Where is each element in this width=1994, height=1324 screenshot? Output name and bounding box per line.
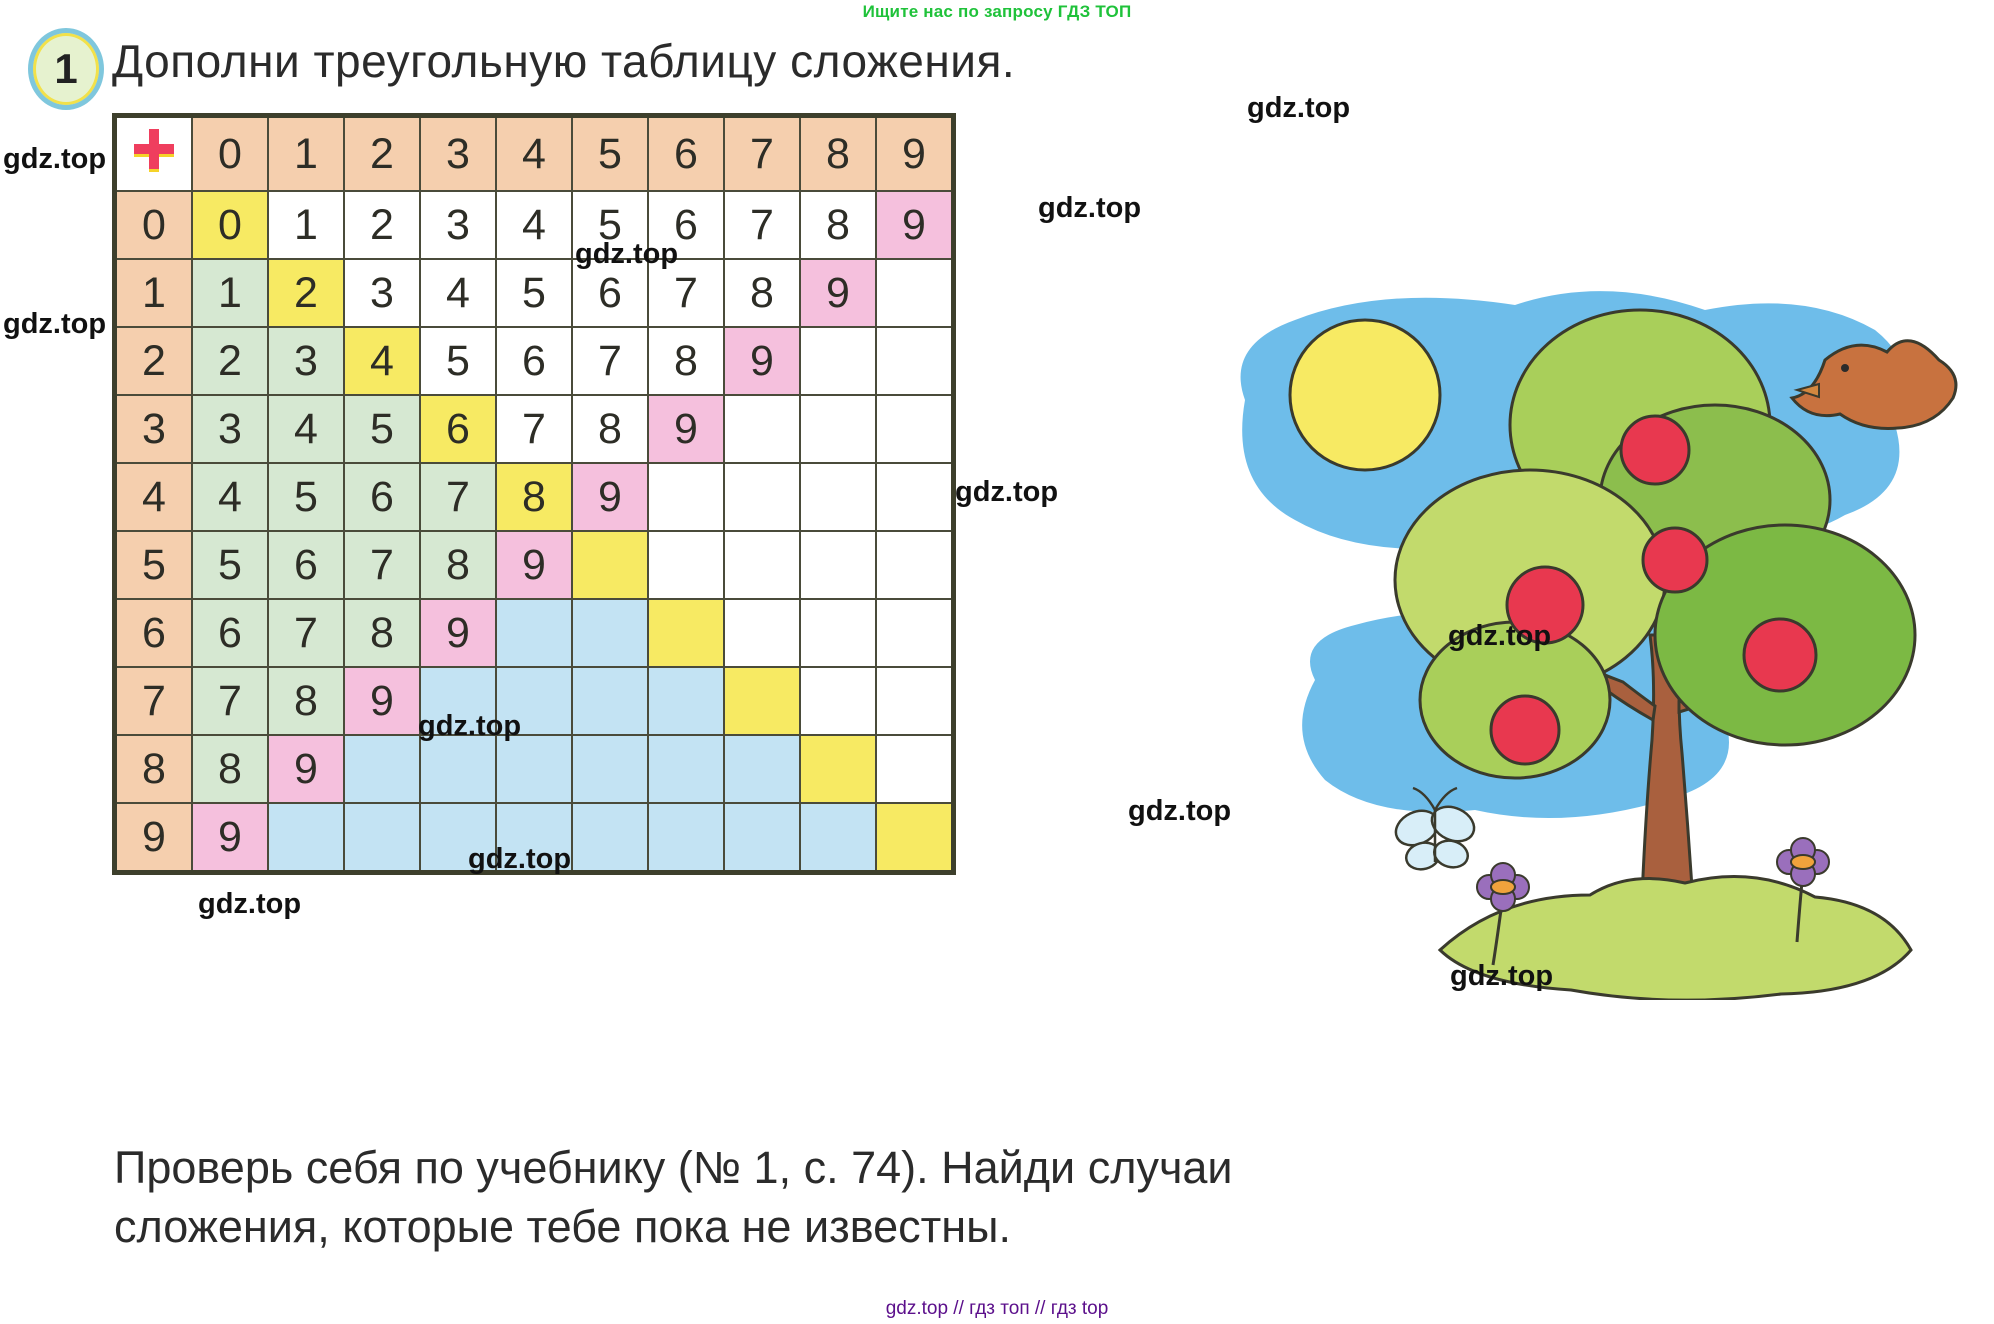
sum-cell-6-0[interactable]: 6 [192,599,268,667]
column-header-7: 7 [724,116,800,192]
empty-cell-9-5[interactable] [572,803,648,873]
sum-cell-4-3[interactable]: 7 [420,463,496,531]
sun-icon [1290,320,1440,470]
empty-cell-8-9[interactable] [876,735,954,803]
sum-cell-0-0[interactable]: 0 [192,191,268,259]
empty-cell-4-6[interactable] [648,463,724,531]
empty-cell-9-4[interactable] [496,803,572,873]
sum-cell-0-3[interactable]: 3 [420,191,496,259]
sum-cell-3-1[interactable]: 4 [268,395,344,463]
sum-cell-0-9[interactable]: 9 [876,191,954,259]
footer-line-2: сложения, которые тебе пока не известны. [114,1197,1534,1256]
sum-cell-3-0[interactable]: 3 [192,395,268,463]
empty-cell-9-2[interactable] [344,803,420,873]
table-row: 4456789 [115,463,954,531]
sum-cell-7-1[interactable]: 8 [268,667,344,735]
empty-cell-4-7[interactable] [724,463,800,531]
table-row: 223456789 [115,327,954,395]
empty-cell-6-8[interactable] [800,599,876,667]
empty-cell-3-9[interactable] [876,395,954,463]
sum-cell-5-1[interactable]: 6 [268,531,344,599]
sum-cell-2-1[interactable]: 3 [268,327,344,395]
sum-cell-2-5[interactable]: 7 [572,327,648,395]
empty-cell-8-8[interactable] [800,735,876,803]
row-header-5: 5 [115,531,193,599]
floating-watermark: gdz.top [1247,92,1350,125]
empty-cell-7-9[interactable] [876,667,954,735]
table-row: 1123456789 [115,259,954,327]
empty-cell-6-5[interactable] [572,599,648,667]
empty-cell-6-4[interactable] [496,599,572,667]
table-row: 889 [115,735,954,803]
empty-cell-6-6[interactable] [648,599,724,667]
sum-cell-6-1[interactable]: 7 [268,599,344,667]
sum-cell-1-3[interactable]: 4 [420,259,496,327]
empty-cell-8-4[interactable] [496,735,572,803]
row-header-3: 3 [115,395,193,463]
empty-cell-9-6[interactable] [648,803,724,873]
empty-cell-8-2[interactable] [344,735,420,803]
row-header-9: 9 [115,803,193,873]
row-header-1: 1 [115,259,193,327]
exercise-number-badge: 1 [28,28,104,110]
table-row: 66789 [115,599,954,667]
row-header-7: 7 [115,667,193,735]
empty-cell-5-7[interactable] [724,531,800,599]
sum-cell-0-1[interactable]: 1 [268,191,344,259]
sum-cell-7-2[interactable]: 9 [344,667,420,735]
floating-watermark: gdz.top [1038,192,1141,225]
floating-watermark: gdz.top [198,888,301,921]
sum-cell-6-3[interactable]: 9 [420,599,496,667]
sum-cell-1-7[interactable]: 8 [724,259,800,327]
column-header-9: 9 [876,116,954,192]
sum-cell-3-6[interactable]: 9 [648,395,724,463]
empty-cell-3-7[interactable] [724,395,800,463]
sum-cell-2-0[interactable]: 2 [192,327,268,395]
sum-cell-0-6[interactable]: 6 [648,191,724,259]
empty-cell-8-3[interactable] [420,735,496,803]
top-watermark-banner: Ищите нас по запросу ГДЗ ТОП [0,2,1994,22]
table-header-row: 0123456789 [115,116,954,192]
sum-cell-7-0[interactable]: 7 [192,667,268,735]
empty-cell-5-9[interactable] [876,531,954,599]
empty-cell-3-8[interactable] [800,395,876,463]
row-header-6: 6 [115,599,193,667]
column-header-8: 8 [800,116,876,192]
floating-watermark: gdz.top [3,308,106,341]
row-header-2: 2 [115,327,193,395]
empty-cell-4-8[interactable] [800,463,876,531]
addition-table-body: 0123456789001234567891123456789223456789… [115,116,954,873]
empty-cell-9-7[interactable] [724,803,800,873]
row-header-4: 4 [115,463,193,531]
footer-line-1: Проверь себя по учебнику (№ 1, с. 74). Н… [114,1138,1534,1197]
column-header-3: 3 [420,116,496,192]
sum-cell-5-2[interactable]: 7 [344,531,420,599]
empty-cell-8-7[interactable] [724,735,800,803]
sum-cell-2-6[interactable]: 8 [648,327,724,395]
sum-cell-5-4[interactable]: 9 [496,531,572,599]
sum-cell-3-4[interactable]: 7 [496,395,572,463]
sum-cell-4-1[interactable]: 5 [268,463,344,531]
sum-cell-4-2[interactable]: 6 [344,463,420,531]
empty-cell-2-8[interactable] [800,327,876,395]
empty-cell-7-5[interactable] [572,667,648,735]
sum-cell-6-2[interactable]: 8 [344,599,420,667]
empty-cell-9-3[interactable] [420,803,496,873]
exercise-footer-text: Проверь себя по учебнику (№ 1, с. 74). Н… [114,1138,1534,1257]
empty-cell-2-9[interactable] [876,327,954,395]
column-header-4: 4 [496,116,572,192]
floating-watermark: gdz.top [3,143,106,176]
sum-cell-1-1[interactable]: 2 [268,259,344,327]
apple-tree-illustration [1185,250,1985,1000]
empty-cell-7-8[interactable] [800,667,876,735]
empty-cell-9-8[interactable] [800,803,876,873]
sum-cell-2-2[interactable]: 4 [344,327,420,395]
sum-cell-4-0[interactable]: 4 [192,463,268,531]
sum-cell-0-5[interactable]: 5 [572,191,648,259]
column-header-5: 5 [572,116,648,192]
empty-cell-9-9[interactable] [876,803,954,873]
floating-watermark: gdz.top [955,476,1058,509]
empty-cell-4-9[interactable] [876,463,954,531]
sum-cell-8-0[interactable]: 8 [192,735,268,803]
sum-cell-0-2[interactable]: 2 [344,191,420,259]
sum-cell-4-5[interactable]: 9 [572,463,648,531]
sum-cell-1-5[interactable]: 6 [572,259,648,327]
sum-cell-2-7[interactable]: 9 [724,327,800,395]
empty-cell-6-9[interactable] [876,599,954,667]
sum-cell-3-5[interactable]: 8 [572,395,648,463]
table-row: 556789 [115,531,954,599]
empty-cell-6-7[interactable] [724,599,800,667]
sum-cell-1-6[interactable]: 7 [648,259,724,327]
empty-cell-1-9[interactable] [876,259,954,327]
sum-cell-5-3[interactable]: 8 [420,531,496,599]
table-row: 33456789 [115,395,954,463]
table-row: 7789 [115,667,954,735]
empty-cell-5-8[interactable] [800,531,876,599]
table-row: 99 [115,803,954,873]
sum-cell-1-8[interactable]: 9 [800,259,876,327]
empty-cell-7-3[interactable] [420,667,496,735]
addition-table[interactable]: 0123456789001234567891123456789223456789… [112,113,956,875]
sum-cell-3-2[interactable]: 5 [344,395,420,463]
sum-cell-2-3[interactable]: 5 [420,327,496,395]
sum-cell-5-0[interactable]: 5 [192,531,268,599]
column-header-0: 0 [192,116,268,192]
empty-cell-7-4[interactable] [496,667,572,735]
sum-cell-4-4[interactable]: 8 [496,463,572,531]
row-header-8: 8 [115,735,193,803]
sum-cell-1-4[interactable]: 5 [496,259,572,327]
plus-glyph [134,129,174,169]
sum-cell-0-4[interactable]: 4 [496,191,572,259]
sum-cell-1-0[interactable]: 1 [192,259,268,327]
sum-cell-9-0[interactable]: 9 [192,803,268,873]
bottom-watermark-banner: gdz.top // гдз топ // гдз top [0,1298,1994,1320]
sum-cell-1-2[interactable]: 3 [344,259,420,327]
exercise-title: Дополни треугольную таблицу сложения. [112,34,1015,88]
empty-cell-9-1[interactable] [268,803,344,873]
sum-cell-0-7[interactable]: 7 [724,191,800,259]
empty-cell-8-6[interactable] [648,735,724,803]
sum-cell-2-4[interactable]: 6 [496,327,572,395]
sum-cell-3-3[interactable]: 6 [420,395,496,463]
empty-cell-7-7[interactable] [724,667,800,735]
row-header-0: 0 [115,191,193,259]
sum-cell-0-8[interactable]: 8 [800,191,876,259]
table-row: 00123456789 [115,191,954,259]
column-header-1: 1 [268,116,344,192]
sum-cell-8-1[interactable]: 9 [268,735,344,803]
empty-cell-7-6[interactable] [648,667,724,735]
column-header-2: 2 [344,116,420,192]
column-header-6: 6 [648,116,724,192]
empty-cell-5-6[interactable] [648,531,724,599]
empty-cell-5-5[interactable] [572,531,648,599]
plus-sign-icon [115,116,193,192]
empty-cell-8-5[interactable] [572,735,648,803]
exercise-number-label: 1 [54,45,77,93]
